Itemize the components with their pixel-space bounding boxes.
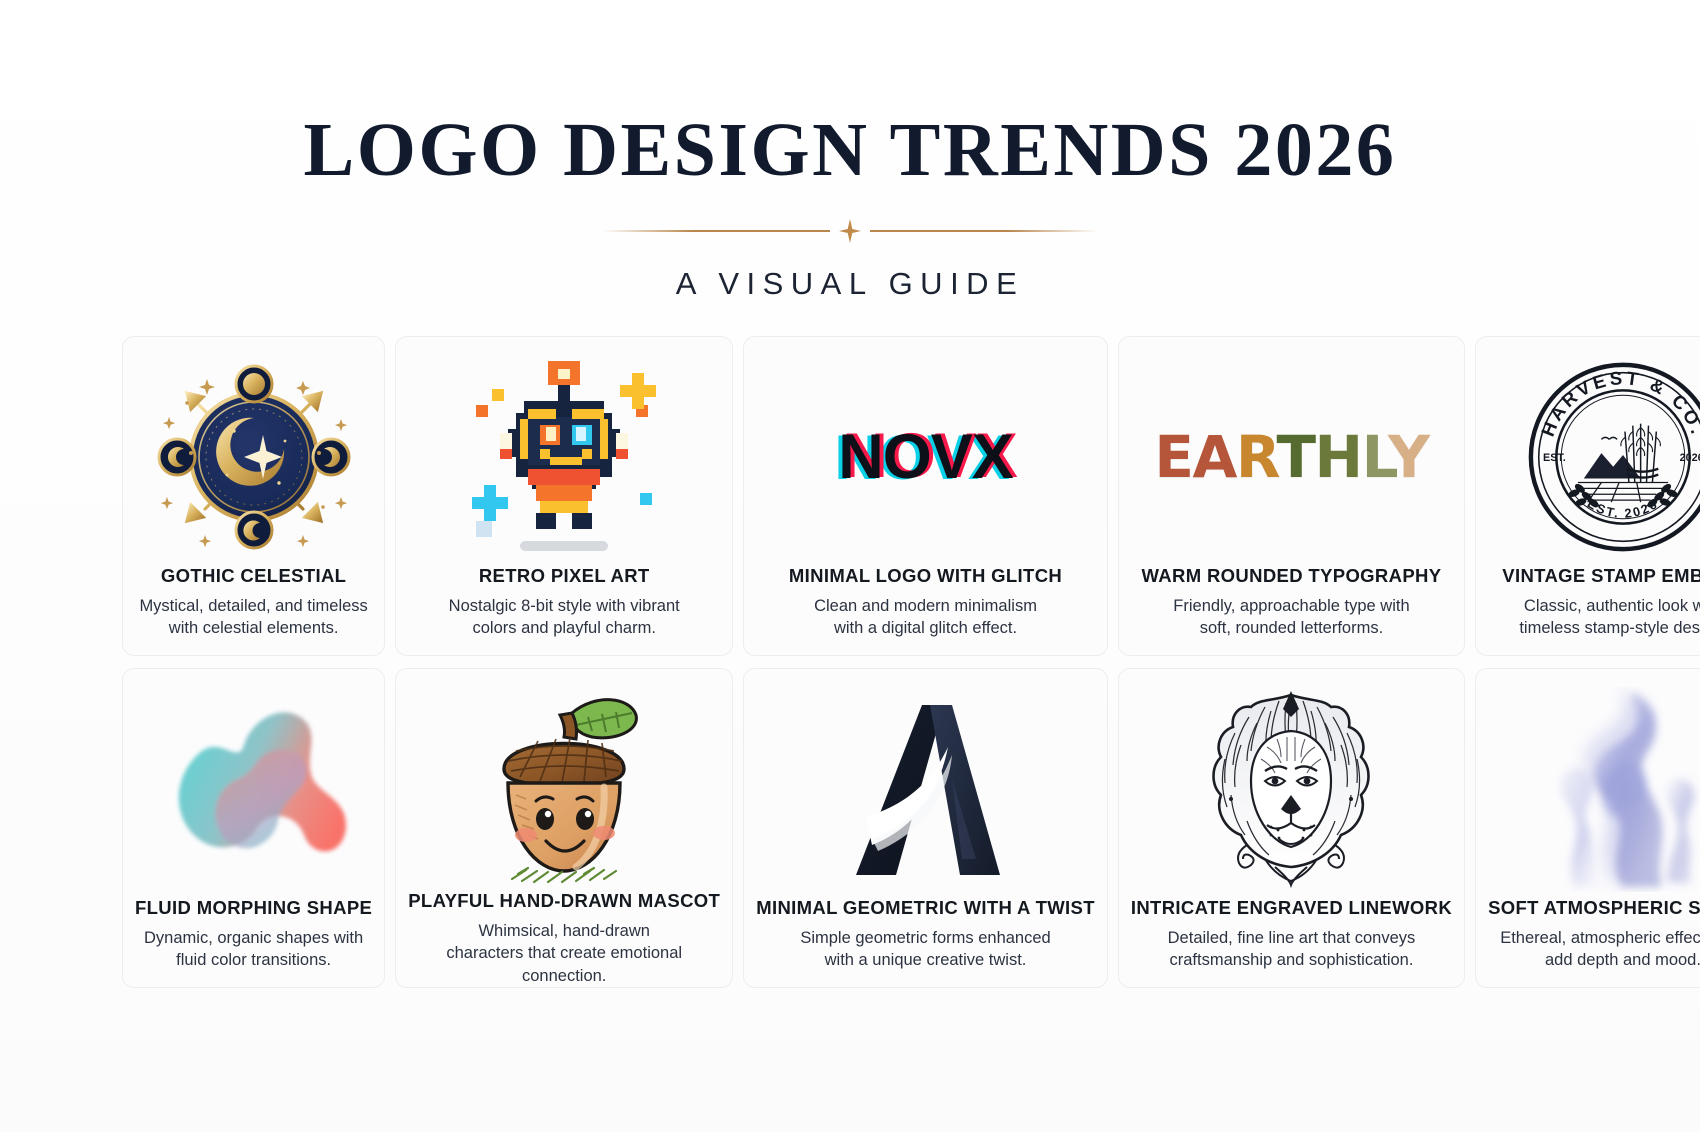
rounded-letter-4: H	[1315, 423, 1362, 491]
infographic-page: LOGO DESIGN TRENDS 2026 A VISUAL GUIDE	[0, 0, 1700, 1132]
svg-text:HARVEST & CO.: HARVEST & CO.	[1537, 367, 1700, 439]
card-title: VINTAGE STAMP EMBLEM	[1502, 565, 1700, 587]
rounded-letter-3: T	[1276, 423, 1314, 491]
rounded-letter-6: Y	[1388, 423, 1429, 491]
card-description: Classic, authentic look with timeless st…	[1497, 595, 1700, 640]
acorn-mascot-icon	[408, 683, 720, 888]
card-title: RETRO PIXEL ART	[479, 565, 650, 587]
fluid-blob-icon	[135, 683, 372, 895]
card-description: Mystical, detailed, and timeless with ce…	[135, 595, 372, 640]
rounded-letter-0: E	[1154, 423, 1192, 491]
card-title: GOTHIC CELESTIAL	[161, 565, 346, 587]
pixel-robot-icon	[408, 351, 720, 563]
page-subtitle: A VISUAL GUIDE	[0, 266, 1700, 302]
glitch-wordmark: NOVX NOVX NOVX	[838, 421, 1013, 493]
trend-card-soft-atmospheric-smoke[interactable]: SOFT ATMOSPHERIC SMOKE Ethereal, atmosph…	[1475, 668, 1700, 988]
card-title: MINIMAL GEOMETRIC WITH A TWIST	[756, 897, 1095, 919]
trend-card-minimal-geometric-with-a-twist[interactable]: MINIMAL GEOMETRIC WITH A TWIST Simple ge…	[743, 668, 1108, 988]
stamp-left-text: EST.	[1543, 452, 1566, 464]
trend-card-vintage-stamp-emblem[interactable]: HARVEST & CO. EST. 2026 EST. 2026	[1475, 336, 1700, 656]
card-title: MINIMAL LOGO WITH GLITCH	[789, 565, 1062, 587]
trend-card-warm-rounded-typography[interactable]: EARTHLY WARM ROUNDED TYPOGRAPHY Friendly…	[1118, 336, 1465, 656]
card-title: PLAYFUL HAND-DRAWN MASCOT	[408, 890, 720, 912]
card-title: FLUID MORPHING SHAPE	[135, 897, 372, 919]
trend-card-minimal-logo-with-glitch[interactable]: NOVX NOVX NOVX MINIMAL LOGO WITH GLITCH …	[743, 336, 1108, 656]
glitch-layer-base: NOVX	[838, 421, 1013, 493]
rounded-letter-1: A	[1193, 423, 1236, 491]
rounded-wordmark: EARTHLY	[1154, 423, 1428, 491]
engraved-lion-icon	[1131, 683, 1452, 895]
trends-grid: GOTHIC CELESTIAL Mystical, detailed, and…	[122, 336, 1578, 988]
card-description: Dynamic, organic shapes with fluid color…	[135, 927, 372, 972]
rounded-letter-2: R	[1236, 423, 1277, 491]
trend-card-gothic-celestial[interactable]: GOTHIC CELESTIAL Mystical, detailed, and…	[122, 336, 385, 656]
rounded-wordmark-icon: EARTHLY	[1131, 351, 1452, 563]
trend-card-playful-hand-drawn-mascot[interactable]: PLAYFUL HAND-DRAWN MASCOT Whimsical, han…	[395, 668, 733, 988]
page-title: LOGO DESIGN TRENDS 2026	[0, 112, 1700, 188]
geometric-a-mark-icon	[756, 683, 1095, 895]
trend-card-intricate-engraved-linework[interactable]: INTRICATE ENGRAVED LINEWORK Detailed, fi…	[1118, 668, 1465, 988]
stamp-right-text: 2026	[1680, 452, 1700, 464]
card-description: Simple geometric forms enhanced with a u…	[800, 927, 1052, 972]
card-description: Friendly, approachable type with soft, r…	[1165, 595, 1417, 640]
trend-card-fluid-morphing-shape[interactable]: FLUID MORPHING SHAPE Dynamic, organic sh…	[122, 668, 385, 988]
header: LOGO DESIGN TRENDS 2026 A VISUAL GUIDE	[0, 0, 1700, 302]
divider	[565, 218, 1135, 244]
divider-line-left	[602, 230, 830, 232]
card-description: Ethereal, atmospheric effects that add d…	[1497, 927, 1700, 972]
diamond-sparkle-icon	[830, 218, 870, 244]
card-title: INTRICATE ENGRAVED LINEWORK	[1131, 897, 1452, 919]
stamp-top-text: HARVEST & CO.	[1537, 367, 1700, 439]
card-description: Whimsical, hand-drawn characters that cr…	[438, 920, 690, 987]
card-description: Clean and modern minimalism with a digit…	[800, 595, 1052, 640]
card-description: Detailed, fine line art that conveys cra…	[1165, 927, 1417, 972]
glitch-wordmark-icon: NOVX NOVX NOVX	[756, 351, 1095, 563]
card-title: WARM ROUNDED TYPOGRAPHY	[1141, 565, 1441, 587]
card-description: Nostalgic 8-bit style with vibrant color…	[438, 595, 690, 640]
trend-card-retro-pixel-art[interactable]: RETRO PIXEL ART Nostalgic 8-bit style wi…	[395, 336, 733, 656]
divider-line-right	[870, 230, 1098, 232]
celestial-emblem-icon	[135, 351, 372, 563]
rounded-letter-5: L	[1362, 423, 1388, 491]
card-title: SOFT ATMOSPHERIC SMOKE	[1488, 897, 1700, 919]
atmospheric-smoke-icon	[1488, 683, 1700, 895]
vintage-stamp-icon: HARVEST & CO. EST. 2026 EST. 2026	[1488, 351, 1700, 563]
